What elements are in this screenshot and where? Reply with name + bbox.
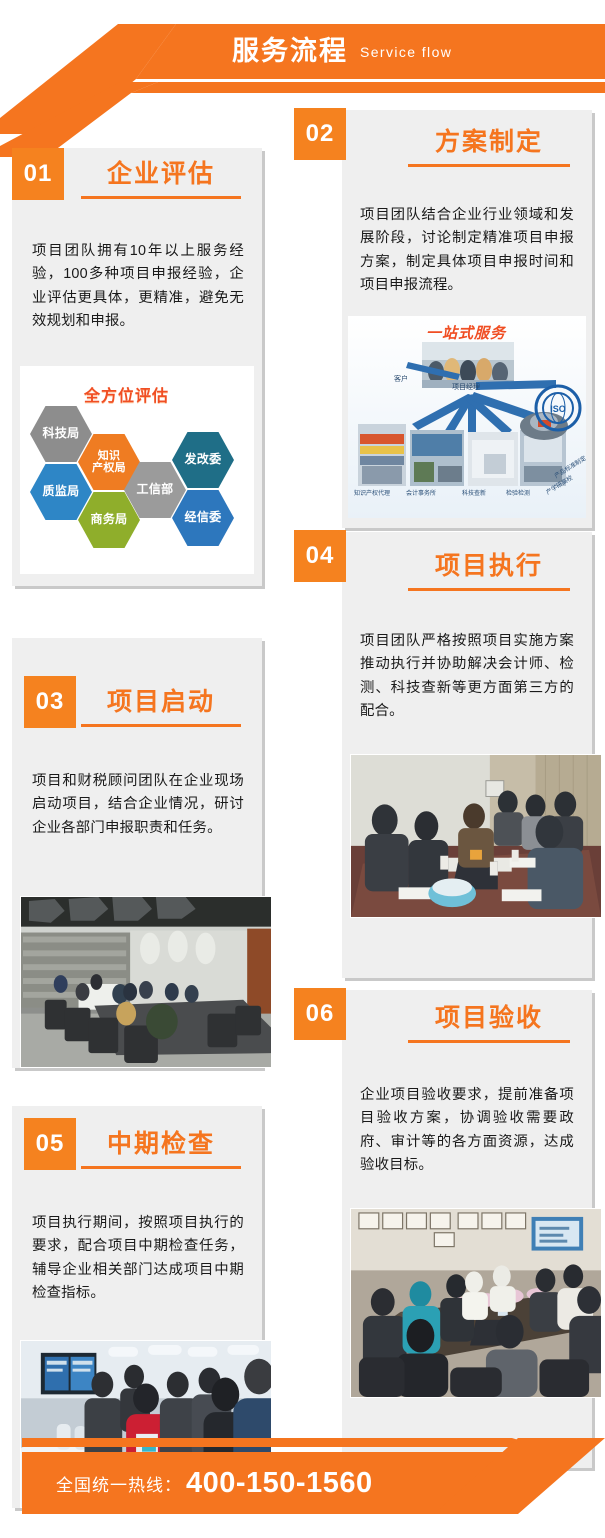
cards-grid: 01 企业评估 项目团队拥有10年以上服务经验，100多种项目申报经验，企业评估…	[0, 100, 605, 1420]
card-06-body: 企业项目验收要求，提前准备项目验收方案，协调验收需要政府、审计等的各方面资源，达…	[360, 1084, 574, 1177]
card-03[interactable]: 03 项目启动 项目和财税顾问团队在企业现场启动项目，结合企业情况，研讨企业各部…	[12, 638, 262, 1068]
page-title: 服务流程	[232, 38, 348, 65]
assessment-hexagon-diagram: 全方位评估 科技局 知识产权局 发改委 质监局 工信部 商务局 经信委	[20, 366, 254, 574]
os-caption-ip-agency: 知识产权代理	[354, 488, 390, 497]
card-05-number-badge: 05	[24, 1118, 76, 1170]
card-01-title-rule	[81, 196, 241, 199]
card-02-number-badge: 02	[294, 108, 346, 160]
conference-room-photo	[20, 896, 272, 1068]
card-03-number-badge: 03	[24, 676, 76, 728]
card-06-title: 项目验收	[394, 1006, 584, 1031]
card-01-title: 企业评估	[68, 162, 254, 187]
os-label-project-manager: 项目经理	[452, 382, 480, 392]
card-04-body: 项目团队严格按照项目实施方案推动执行并协助解决会计师、检测、科技查新等更方面第三…	[360, 630, 574, 723]
card-01[interactable]: 01 企业评估 项目团队拥有10年以上服务经验，100多种项目申报经验，企业评估…	[12, 148, 262, 586]
header-title-group: 服务流程 Service flow	[0, 24, 605, 79]
hotline-group: 全国统一热线： 400-150-1560	[56, 1452, 373, 1514]
card-01-body: 项目团队拥有10年以上服务经验，100多种项目申报经验，企业评估更具体，更精准，…	[32, 240, 244, 333]
card-03-title: 项目启动	[68, 690, 254, 715]
os-label-customer: 客户	[394, 374, 408, 384]
svg-text:ISO: ISO	[550, 404, 566, 414]
hexagon-fagai-wei: 发改委	[172, 432, 234, 488]
card-04-title: 项目执行	[394, 554, 584, 579]
os-caption-tech-search: 科技查新	[462, 488, 486, 497]
card-06-title-rule	[408, 1040, 570, 1043]
page-footer: 全国统一热线： 400-150-1560	[0, 1420, 605, 1538]
page-header: 服务流程 Service flow	[0, 0, 605, 100]
card-03-title-rule	[81, 724, 241, 727]
card-06-number-badge: 06	[294, 988, 346, 1040]
card-03-body: 项目和财税顾问团队在企业现场启动项目，结合企业情况，研讨企业各部门申报职责和任务…	[32, 770, 244, 840]
card-04-number-badge: 04	[294, 530, 346, 582]
os-caption-accounting: 会计事务所	[406, 488, 436, 497]
hotline-label: 全国统一热线：	[56, 1471, 182, 1496]
page-subtitle: Service flow	[360, 44, 452, 60]
hotline-number[interactable]: 400-150-1560	[186, 1467, 373, 1500]
card-05-body: 项目执行期间，按照项目执行的要求，配合项目中期检查任务，辅导企业相关部门达成项目…	[32, 1212, 244, 1305]
large-conference-photo	[350, 1208, 602, 1398]
card-06[interactable]: 06 项目验收 企业项目验收要求，提前准备项目验收方案，协调验收需要政府、审计等…	[342, 990, 592, 1468]
card-05-title-rule	[81, 1166, 241, 1169]
card-02-title: 方案制定	[394, 130, 584, 155]
one-stop-title: 一站式服务	[426, 322, 506, 343]
card-05-title: 中期检查	[68, 1132, 254, 1157]
meeting-laptops-photo	[350, 754, 602, 918]
assessment-diagram-title: 全方位评估	[84, 382, 169, 406]
one-stop-service-diagram: ISO 一站式服务 客户 项目经理 知识产权代理 会计事务所 科技查新 检验检测…	[348, 316, 586, 518]
card-02-title-rule	[408, 164, 570, 167]
card-04[interactable]: 04 项目执行 项目团队严格按照项目实施方案推动执行并协助解决会计师、检测、科技…	[342, 532, 592, 978]
card-02-body: 项目团队结合企业行业领域和发展阶段，讨论制定精准项目申报方案，制定具体项目申报时…	[360, 204, 574, 297]
card-02[interactable]: 02 方案制定 项目团队结合企业行业领域和发展阶段，讨论制定精准项目申报方案，制…	[342, 110, 592, 528]
os-caption-inspection: 检验检测	[506, 488, 530, 497]
card-04-title-rule	[408, 588, 570, 591]
card-01-number-badge: 01	[12, 148, 64, 200]
